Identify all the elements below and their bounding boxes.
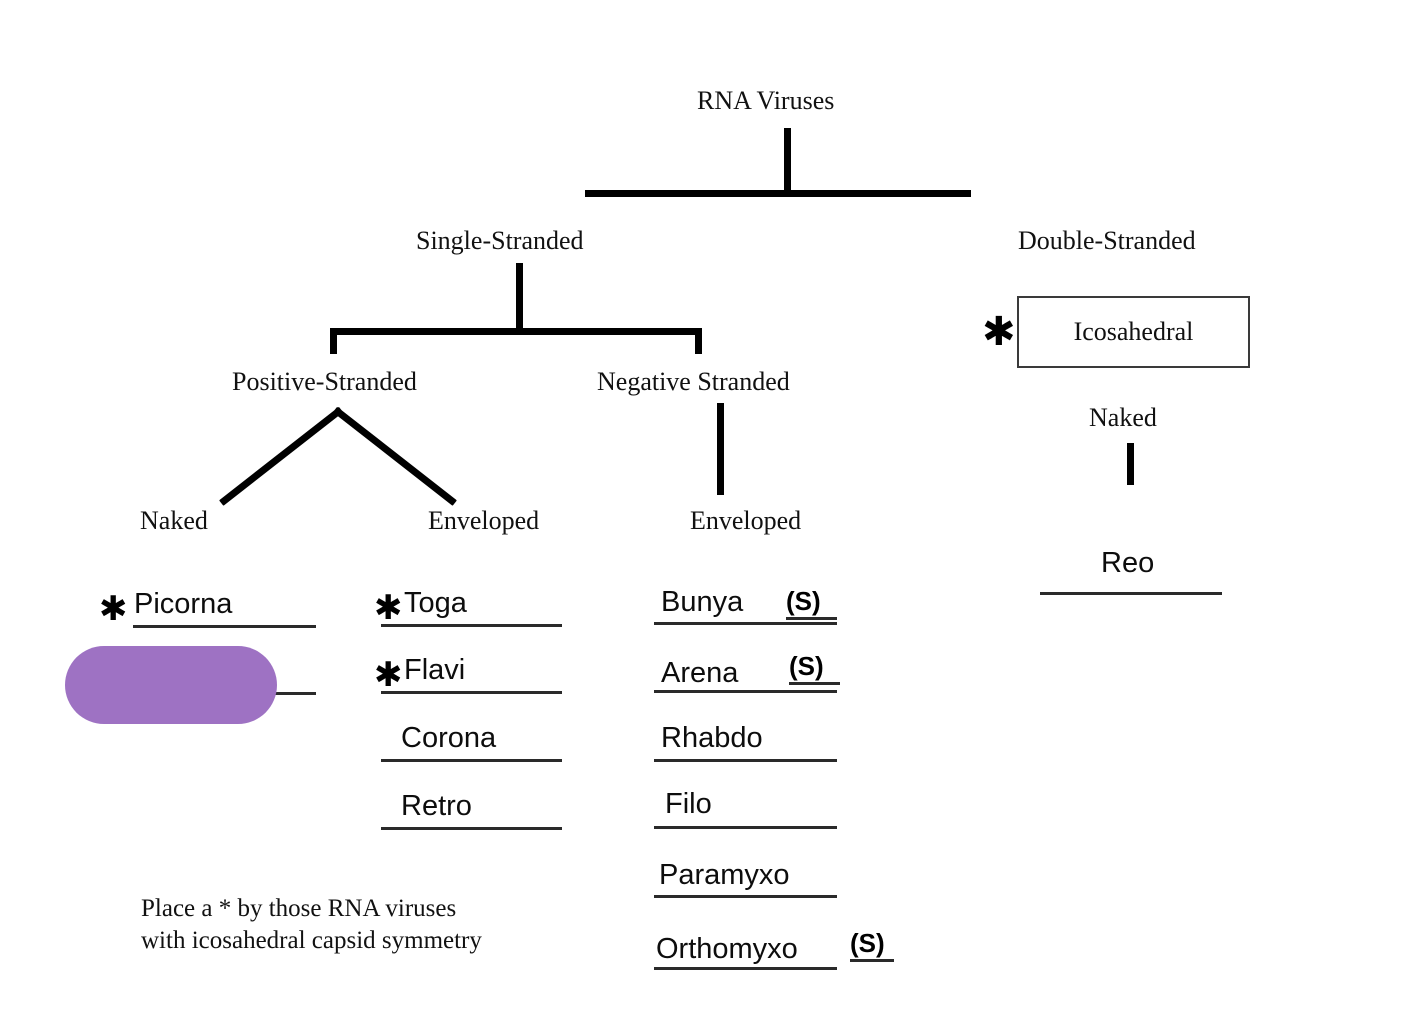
node-positive-stranded: Positive-Stranded <box>232 369 417 395</box>
entry-retro: Retro <box>401 792 472 821</box>
entry-arena: Arena <box>661 659 738 688</box>
entry-picorna: Picorna <box>134 590 232 619</box>
connector-single-stranded-left-stub <box>330 328 337 354</box>
entry-bunya-rule <box>654 622 837 625</box>
node-icosahedral-box: Icosahedral <box>1017 296 1250 368</box>
node-negative-enveloped: Enveloped <box>690 508 801 534</box>
asterisk-icosahedral: ✱ <box>982 312 1016 352</box>
entry-paramyxo-rule <box>654 895 837 898</box>
entry-flavi-rule <box>381 691 562 694</box>
connector-positive-to-enveloped <box>333 407 457 506</box>
asterisk-picorna: ✱ <box>99 592 128 626</box>
instruction-text: Place a * by those RNA viruses with icos… <box>141 893 482 957</box>
node-positive-enveloped: Enveloped <box>428 508 539 534</box>
entry-rhabdo-rule <box>654 759 837 762</box>
node-positive-naked: Naked <box>140 508 208 534</box>
connector-root-stem <box>784 128 791 196</box>
entry-orthomyxo-segmented-flag: (S) <box>850 930 885 956</box>
entry-arena-rule <box>654 690 837 693</box>
entry-reo-rule <box>1040 592 1222 595</box>
entry-orthomyxo-segmented-rule <box>850 959 894 962</box>
entry-toga-rule <box>381 624 562 627</box>
entry-retro-rule <box>381 827 562 830</box>
entry-bunya-segmented-rule <box>786 617 837 620</box>
entry-filo: Filo <box>665 790 712 819</box>
rna-virus-classification-diagram: RNA Viruses Single-Stranded Double-Stran… <box>0 0 1420 1034</box>
connector-negative-to-enveloped <box>717 403 724 495</box>
node-negative-stranded: Negative Stranded <box>597 369 790 395</box>
entry-corona: Corona <box>401 724 496 753</box>
asterisk-toga: ✱ <box>374 591 403 625</box>
connector-single-stranded-right-stub <box>695 328 702 354</box>
entry-corona-rule <box>381 759 562 762</box>
entry-arena-segmented-flag: (S) <box>789 653 824 679</box>
connector-single-stranded-bar <box>330 328 702 335</box>
node-double-stranded: Double-Stranded <box>1018 228 1196 254</box>
node-single-stranded: Single-Stranded <box>416 228 584 254</box>
entry-flavi: Flavi <box>404 656 465 685</box>
entry-paramyxo: Paramyxo <box>659 861 790 890</box>
node-rna-viruses: RNA Viruses <box>697 88 834 114</box>
redaction-blob-picorna-column <box>65 646 277 724</box>
entry-toga: Toga <box>404 589 467 618</box>
entry-arena-segmented-rule <box>789 682 840 685</box>
entry-reo: Reo <box>1101 549 1154 578</box>
entry-rhabdo: Rhabdo <box>661 724 763 753</box>
entry-bunya: Bunya <box>661 588 743 617</box>
connector-positive-to-naked <box>219 407 343 506</box>
connector-ds-naked-stem <box>1127 443 1134 485</box>
connector-root-bar <box>585 190 971 197</box>
entry-orthomyxo-rule <box>654 967 837 970</box>
entry-picorna-rule <box>133 625 316 628</box>
connector-single-stranded-stem <box>516 263 523 335</box>
asterisk-flavi: ✱ <box>374 658 403 692</box>
node-double-stranded-naked: Naked <box>1089 405 1157 431</box>
entry-orthomyxo: Orthomyxo <box>656 935 798 964</box>
entry-bunya-segmented-flag: (S) <box>786 588 821 614</box>
entry-filo-rule <box>654 826 837 829</box>
node-icosahedral-label: Icosahedral <box>1074 317 1194 347</box>
